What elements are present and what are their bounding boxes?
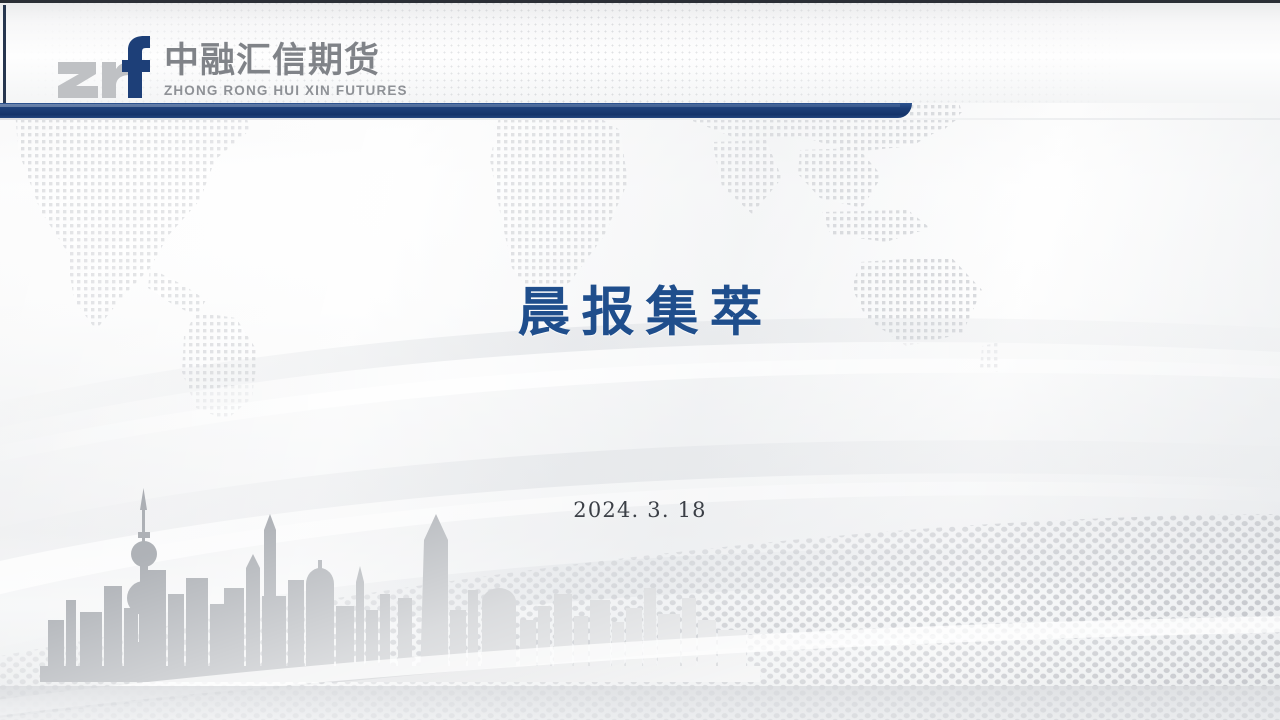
logo-company-name-en: ZHONG RONG HUI XIN FUTURES bbox=[164, 83, 408, 98]
slide-title: 晨报集萃 bbox=[0, 282, 1280, 343]
date-block: 2024. 3. 18 bbox=[0, 498, 1280, 522]
title-block: 晨报集萃 bbox=[0, 282, 1280, 343]
accent-bar-underline bbox=[0, 118, 1280, 120]
header-top-rule bbox=[0, 0, 1280, 3]
logo-wordmark: 中融汇信期货 ZHONG RONG HUI XIN FUTURES bbox=[164, 44, 408, 100]
slide-date: 2024. 3. 18 bbox=[0, 498, 1280, 522]
presentation-slide: 中融汇信期货 ZHONG RONG HUI XIN FUTURES 晨报集萃 2… bbox=[0, 0, 1280, 720]
accent-bar-highlight bbox=[0, 104, 900, 107]
company-logo: 中融汇信期货 ZHONG RONG HUI XIN FUTURES bbox=[56, 32, 408, 100]
logo-company-name-cn: 中融汇信期货 bbox=[164, 44, 380, 80]
bottom-band bbox=[0, 686, 1280, 720]
zrf-logo-icon bbox=[56, 36, 152, 100]
header-left-rule bbox=[3, 5, 6, 105]
